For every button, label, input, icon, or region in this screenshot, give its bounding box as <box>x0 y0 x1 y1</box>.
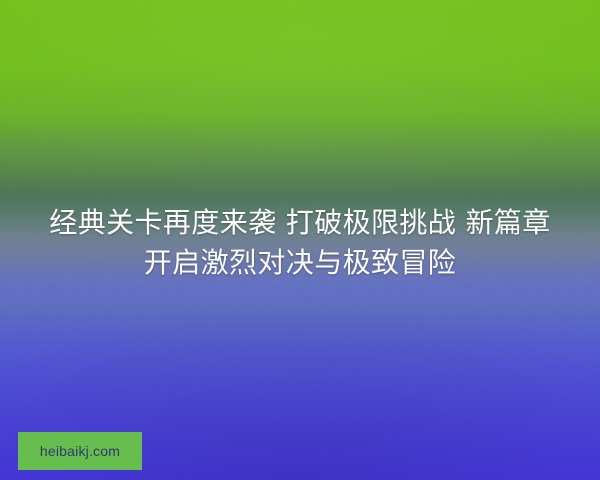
banner-image: 经典关卡再度来袭 打破极限挑战 新篇章 开启激烈对决与极致冒险 heibaikj… <box>0 0 600 480</box>
watermark-label: heibaikj.com <box>40 444 120 458</box>
caption-line-2: 开启激烈对决与极致冒险 <box>0 243 600 283</box>
watermark-badge: heibaikj.com <box>18 432 142 470</box>
caption-line-1: 经典关卡再度来袭 打破极限挑战 新篇章 <box>0 203 600 243</box>
caption-text: 经典关卡再度来袭 打破极限挑战 新篇章 开启激烈对决与极致冒险 <box>0 203 600 283</box>
